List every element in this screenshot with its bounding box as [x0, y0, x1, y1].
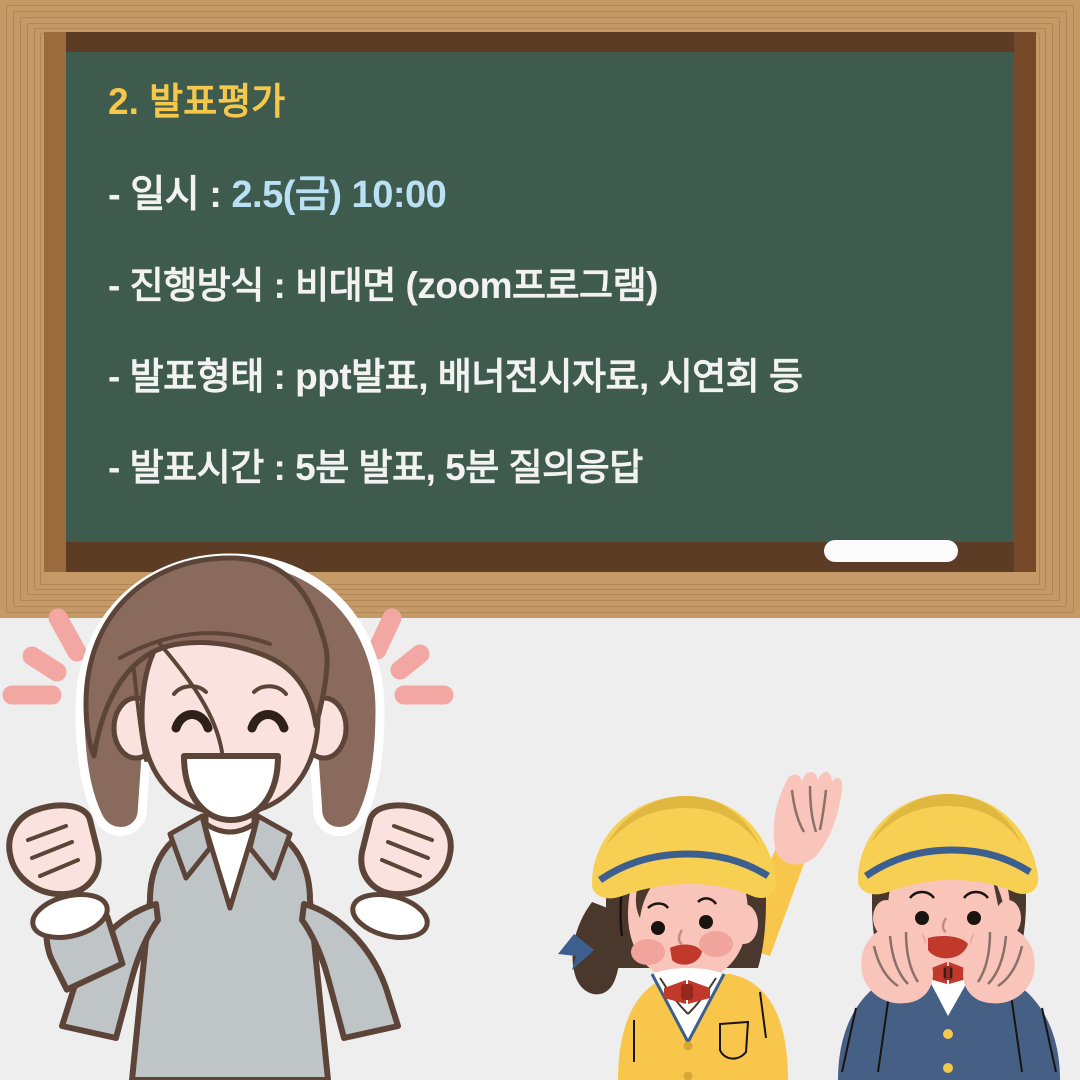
boy-hat — [858, 794, 1038, 894]
boy-button-1 — [943, 1029, 953, 1039]
girl-right-cheek — [699, 931, 733, 957]
line-method: - 진행방식 : 비대면 (zoom프로그램) — [108, 266, 988, 307]
line-date-label: - 일시 : — [108, 174, 231, 216]
boy-student-illustration — [816, 772, 1080, 1080]
teacher-illustration — [0, 548, 490, 1080]
boy-button-2 — [943, 1063, 953, 1073]
girl-left-cheek — [631, 939, 665, 965]
chalkboard: 2. 발표평가 - 일시 : 2.5(금) 10:00 - 진행방식 : 비대면… — [0, 0, 1080, 618]
chalkboard-inner-border-left — [44, 32, 66, 572]
line-date: - 일시 : 2.5(금) 10:00 — [108, 175, 988, 217]
chalkboard-text-block: 2. 발표평가 - 일시 : 2.5(금) 10:00 - 진행방식 : 비대면… — [108, 82, 988, 489]
girl-right-eye — [699, 915, 713, 929]
page-title: 2. 발표평가 — [108, 82, 988, 123]
chalk-stick-icon[interactable] — [824, 540, 958, 562]
girl-button-1 — [684, 1042, 693, 1051]
girl-bowtie — [681, 984, 693, 1000]
line-format: - 발표형태 : ppt발표, 배너전시자료, 시연회 등 — [108, 357, 988, 398]
girl-left-eye — [651, 921, 665, 935]
line-date-value: 2.5(금) 10:00 — [231, 174, 446, 216]
girl-student-illustration — [548, 756, 848, 1080]
line-duration: - 발표시간 : 5분 발표, 5분 질의응답 — [108, 448, 988, 489]
slide-canvas: 2. 발표평가 - 일시 : 2.5(금) 10:00 - 진행방식 : 비대면… — [0, 0, 1080, 1080]
boy-left-eye — [915, 911, 929, 925]
chalkboard-inner-border-right — [1014, 32, 1036, 572]
boy-right-eye — [967, 911, 981, 925]
girl-hat — [592, 796, 776, 898]
